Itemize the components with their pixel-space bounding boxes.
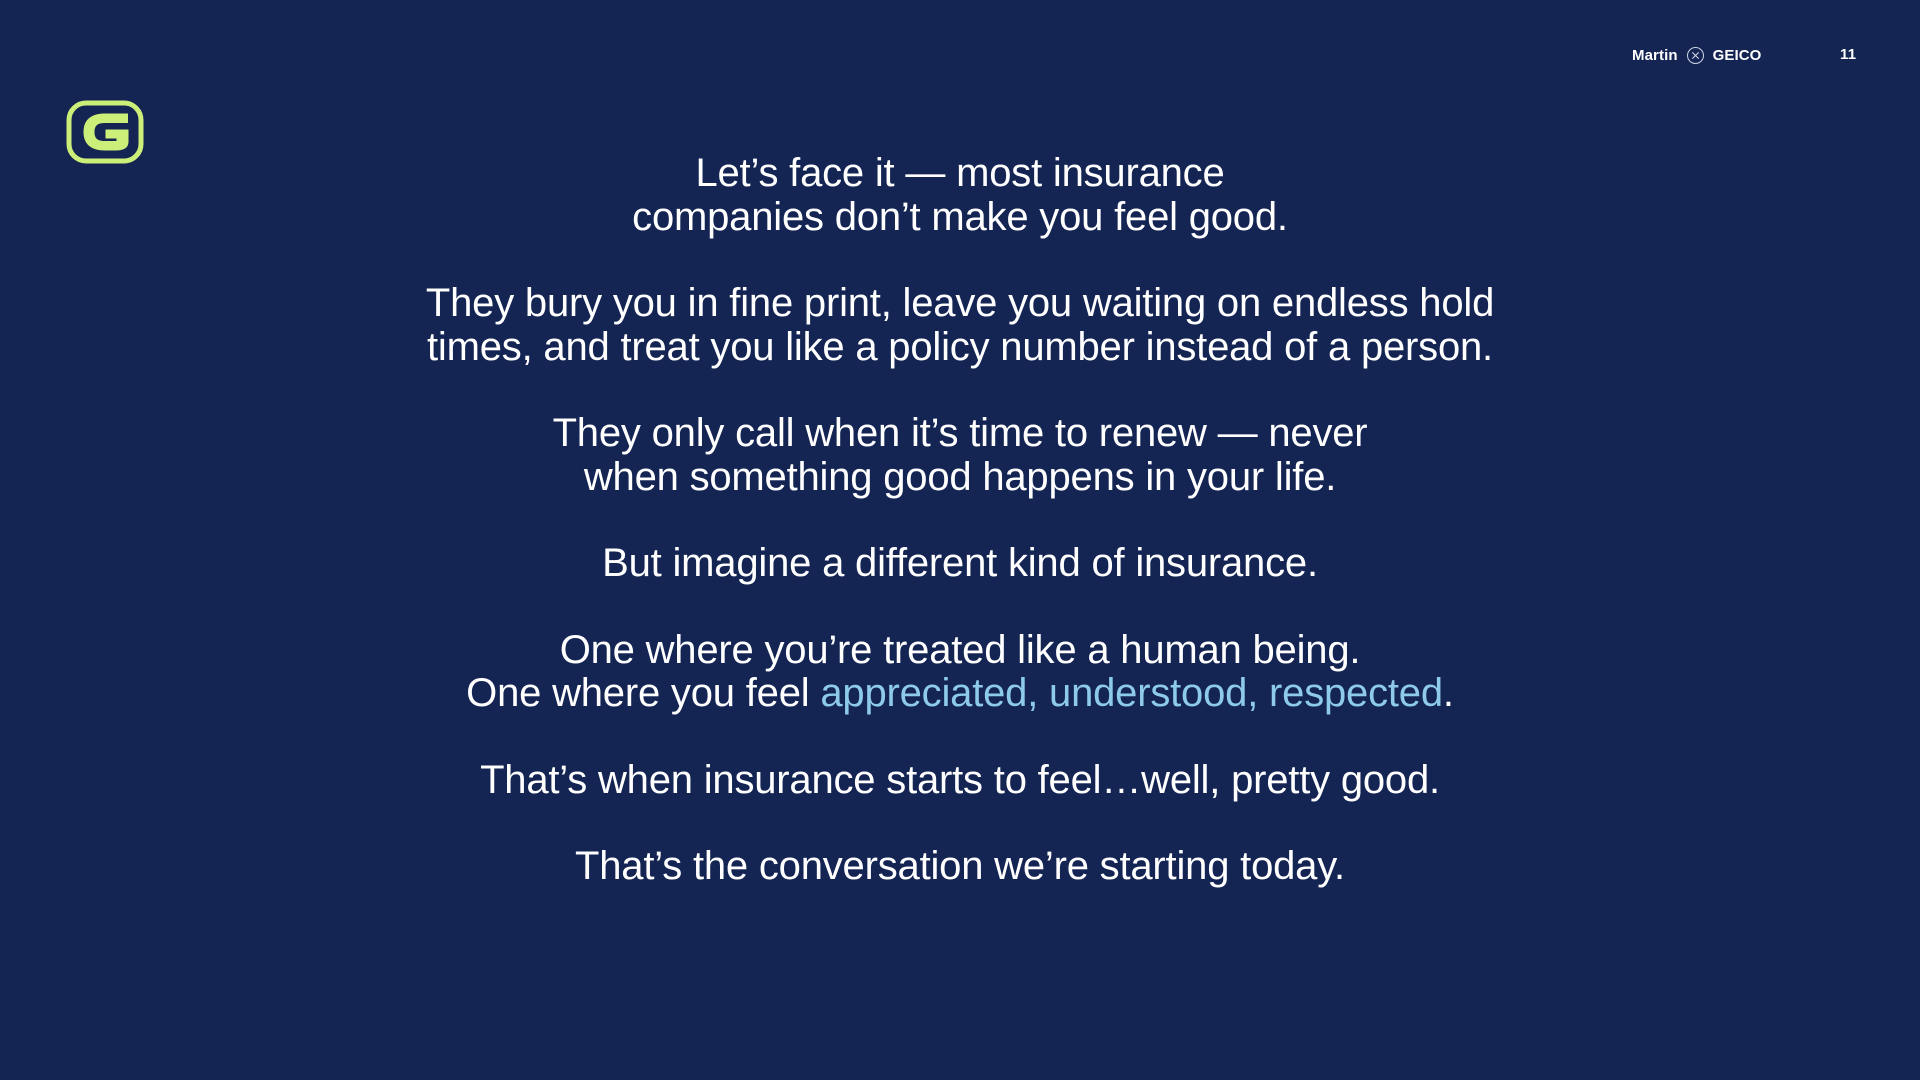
body-line: times, and treat you like a policy numbe… bbox=[0, 326, 1920, 370]
body-text-run: One where you’re treated like a human be… bbox=[560, 628, 1361, 672]
body-line: They bury you in fine print, leave you w… bbox=[0, 282, 1920, 326]
body-line: They only call when it’s time to renew —… bbox=[0, 412, 1920, 456]
highlighted-word: appreciated bbox=[820, 671, 1027, 715]
body-text-run: One where you feel bbox=[466, 671, 820, 715]
body-text-run: That’s the conversation we’re starting t… bbox=[575, 844, 1345, 888]
body-text-run: . bbox=[1443, 671, 1454, 715]
body-text-run: That’s when insurance starts to feel…wel… bbox=[480, 758, 1440, 802]
body-line: One where you feel appreciated, understo… bbox=[0, 672, 1920, 716]
body-text-run: Let’s face it — most insurance bbox=[695, 151, 1224, 195]
body-text-run: when something good happens in your life… bbox=[584, 455, 1336, 499]
body-line: Let’s face it — most insurance bbox=[0, 152, 1920, 196]
paragraph-spacer bbox=[0, 369, 1920, 412]
highlighted-word: , bbox=[1247, 671, 1269, 715]
page-number: 11 bbox=[1840, 47, 1856, 62]
body-paragraph: They bury you in fine print, leave you w… bbox=[0, 282, 1920, 369]
slide-canvas: Martin GEICO 11 Let’s face it — most ins… bbox=[0, 0, 1920, 1080]
body-text-run: companies don’t make you feel good. bbox=[632, 195, 1288, 239]
paragraph-spacer bbox=[0, 499, 1920, 542]
body-line: companies don’t make you feel good. bbox=[0, 196, 1920, 240]
body-paragraph: One where you’re treated like a human be… bbox=[0, 629, 1920, 716]
paragraph-spacer bbox=[0, 716, 1920, 759]
paragraph-spacer bbox=[0, 239, 1920, 282]
body-paragraph: Let’s face it — most insurancecompanies … bbox=[0, 152, 1920, 239]
body-line: One where you’re treated like a human be… bbox=[0, 629, 1920, 673]
body-paragraph: That’s when insurance starts to feel…wel… bbox=[0, 759, 1920, 803]
highlighted-word: understood bbox=[1049, 671, 1247, 715]
paragraph-spacer bbox=[0, 586, 1920, 629]
body-line: That’s when insurance starts to feel…wel… bbox=[0, 759, 1920, 803]
circle-x-icon bbox=[1687, 47, 1704, 64]
body-line: when something good happens in your life… bbox=[0, 456, 1920, 500]
body-text-run: times, and treat you like a policy numbe… bbox=[427, 325, 1493, 369]
highlighted-word: , bbox=[1027, 671, 1049, 715]
highlighted-word: respected bbox=[1269, 671, 1443, 715]
body-paragraph: They only call when it’s time to renew —… bbox=[0, 412, 1920, 499]
body-line: But imagine a different kind of insuranc… bbox=[0, 542, 1920, 586]
paragraph-spacer bbox=[0, 802, 1920, 845]
body-paragraph: That’s the conversation we’re starting t… bbox=[0, 845, 1920, 889]
header-brand-pair: Martin GEICO bbox=[1632, 47, 1761, 64]
brand-name: GEICO bbox=[1713, 48, 1762, 63]
client-name: Martin bbox=[1632, 48, 1678, 63]
body-text-run: But imagine a different kind of insuranc… bbox=[602, 541, 1318, 585]
slide-body-copy: Let’s face it — most insurancecompanies … bbox=[0, 152, 1920, 889]
body-text-run: They bury you in fine print, leave you w… bbox=[426, 281, 1494, 325]
body-line: That’s the conversation we’re starting t… bbox=[0, 845, 1920, 889]
body-text-run: They only call when it’s time to renew —… bbox=[553, 411, 1368, 455]
body-paragraph: But imagine a different kind of insuranc… bbox=[0, 542, 1920, 586]
